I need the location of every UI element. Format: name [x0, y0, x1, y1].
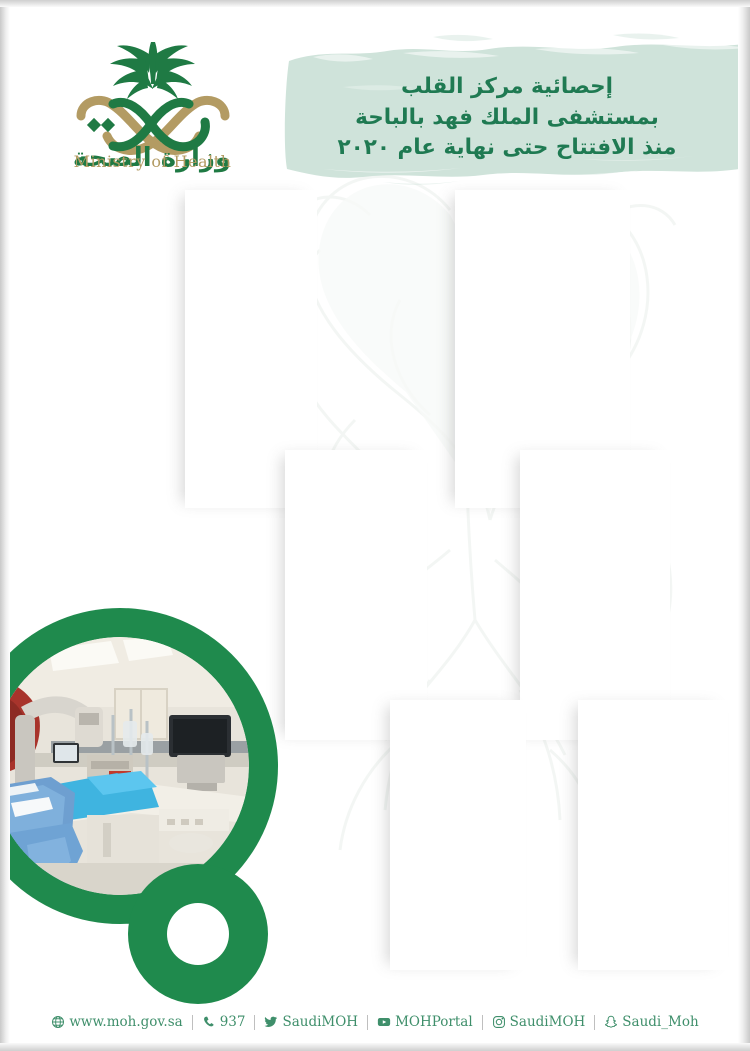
title-line-1: إحصائية مركز القلب — [292, 72, 722, 103]
footer-twitter-label: SaudiMOH — [282, 1014, 358, 1030]
footer-item-twitter[interactable]: SaudiMOH — [255, 1014, 367, 1030]
twitter-icon — [264, 1015, 278, 1029]
logo-name-en: Ministry of Health — [35, 152, 270, 171]
panel-col-e — [390, 700, 526, 970]
phone-icon — [202, 1015, 216, 1029]
footer-item-instagram[interactable]: SaudiMOH — [483, 1014, 595, 1030]
panel-col-c — [285, 450, 427, 740]
page-frame-bottom — [0, 1043, 750, 1051]
page-frame-left — [0, 0, 10, 1051]
page-frame-right — [738, 0, 750, 1051]
footer-instagram-label: SaudiMOH — [510, 1014, 586, 1030]
snapchat-icon — [604, 1015, 618, 1029]
globe-icon — [51, 1015, 65, 1029]
cath-lab-photo — [0, 637, 249, 895]
infographic-poster: وزارة الصحة Ministry of Health إحصائية م… — [0, 0, 750, 1051]
page-frame-top — [0, 0, 750, 7]
title-line-2: بمستشفى الملك فهد بالباحة — [292, 103, 722, 134]
green-donut-shape — [128, 864, 268, 1004]
panel-col-d — [520, 450, 670, 740]
footer-contact-bar: www.moh.gov.sa 937 SaudiMOH MOHPortal — [0, 1007, 750, 1037]
footer-item-snapchat[interactable]: Saudi_Moh — [595, 1014, 707, 1030]
footer-website-label: www.moh.gov.sa — [69, 1014, 182, 1030]
youtube-icon — [377, 1015, 391, 1029]
footer-phone-label: 937 — [220, 1014, 246, 1030]
page-title: إحصائية مركز القلب بمستشفى الملك فهد بال… — [292, 72, 722, 164]
footer-item-youtube[interactable]: MOHPortal — [368, 1014, 482, 1030]
footer-item-phone[interactable]: 937 — [193, 1014, 255, 1030]
title-line-3: منذ الافتتاح حتى نهاية عام ٢٠٢٠ — [292, 133, 722, 164]
footer-item-website[interactable]: www.moh.gov.sa — [42, 1014, 191, 1030]
instagram-icon — [492, 1015, 506, 1029]
panel-col-f — [578, 700, 728, 970]
footer-snapchat-label: Saudi_Moh — [622, 1014, 698, 1030]
footer-youtube-label: MOHPortal — [395, 1014, 473, 1030]
